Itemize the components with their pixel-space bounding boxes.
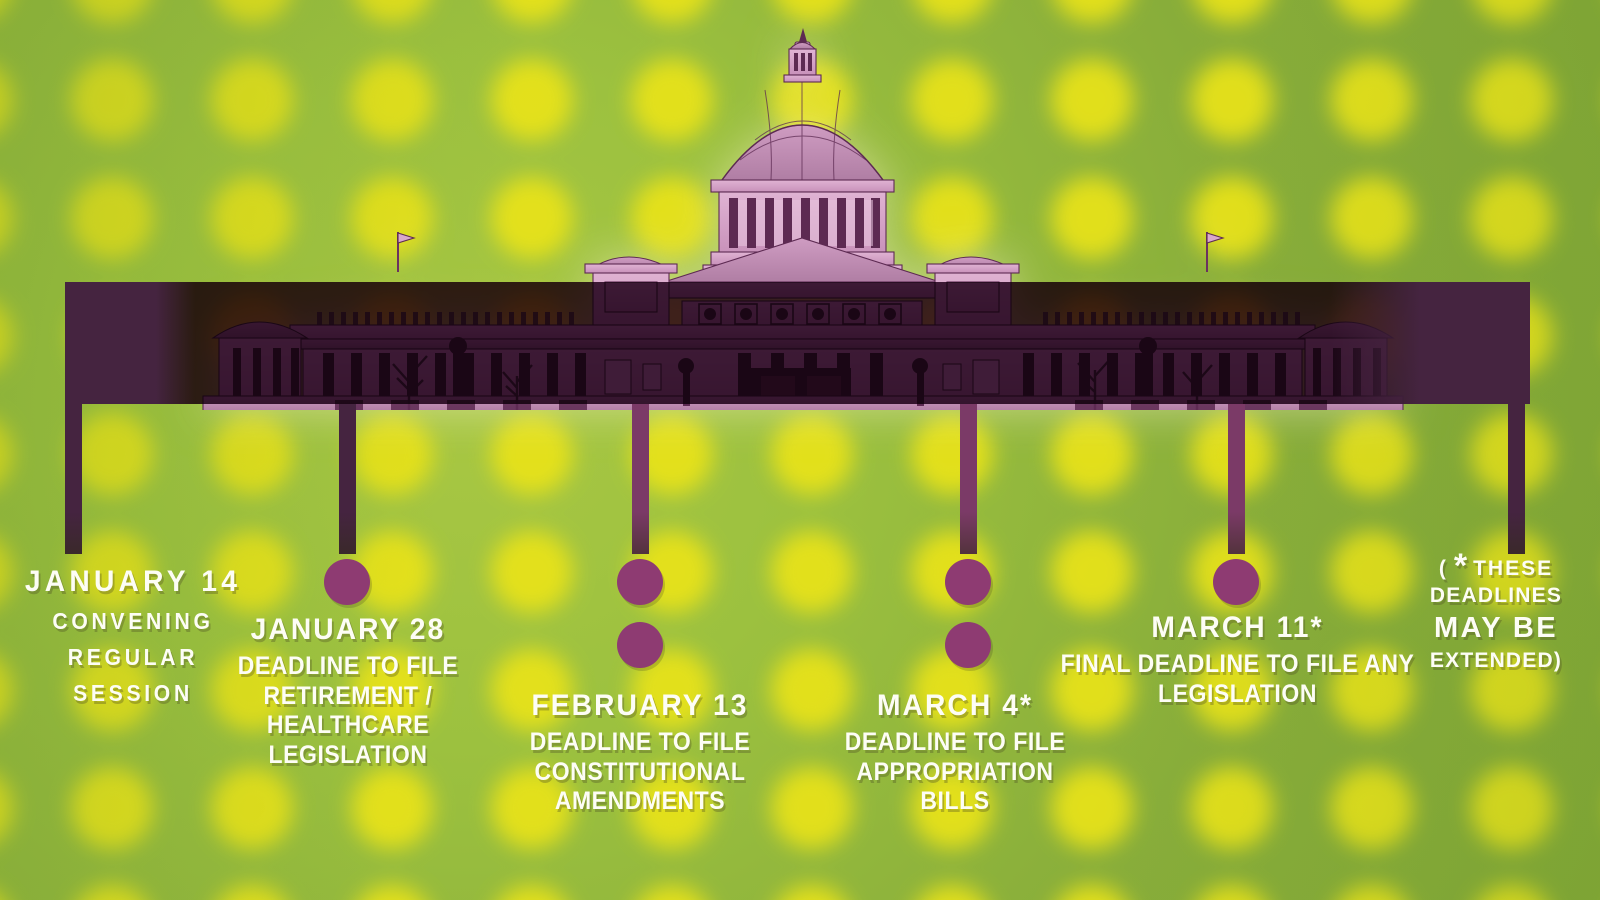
timeline-stem-february-13	[632, 404, 649, 554]
asterisk-icon: *	[1448, 547, 1473, 585]
timeline-stem-march-4	[960, 404, 977, 554]
footnote-text-these: These	[1473, 557, 1553, 580]
timeline-bar-right-fade	[1330, 282, 1530, 404]
timeline-stem-january-14	[65, 404, 82, 554]
milestone-label-february-13[interactable]: February 13 Deadline to File Constitutio…	[500, 688, 780, 817]
timeline-marker-march-11[interactable]	[1213, 559, 1259, 605]
timeline-marker-march-4-secondary[interactable]	[945, 622, 991, 668]
milestone-label-march-11[interactable]: March 11* Final Deadline to File Any Leg…	[1040, 610, 1435, 709]
milestone-date: March 11*	[1052, 610, 1423, 645]
footnote-deadlines-may-be-extended: (*These Deadlines May Be Extended)	[1396, 555, 1596, 675]
footnote-line-1: (*These	[1396, 555, 1596, 582]
timeline-marker-march-4-primary[interactable]	[945, 559, 991, 605]
timeline-stem-footnote	[1508, 404, 1525, 554]
footnote-line-2: Deadlines	[1396, 582, 1596, 609]
footnote-line-4: Extended)	[1396, 647, 1596, 674]
milestone-date: January 28	[212, 612, 485, 647]
milestone-date: March 4*	[838, 688, 1073, 723]
milestone-description: Final Deadline to File Any Legislation	[1056, 650, 1419, 709]
timeline-stem-january-28	[339, 404, 356, 554]
milestone-description: Deadline to File Retirement / Healthcare…	[215, 652, 482, 770]
footnote-open-paren: (	[1439, 557, 1448, 580]
timeline-marker-january-28[interactable]	[324, 559, 370, 605]
timeline-stem-march-11	[1228, 404, 1245, 554]
milestone-description: Deadline to File Appropriation Bills	[840, 728, 1070, 817]
timeline-marker-february-13-secondary[interactable]	[617, 622, 663, 668]
infographic-canvas: January 14 Convening Regular Session Jan…	[0, 0, 1600, 900]
milestone-date: January 14	[16, 564, 251, 599]
timeline-bar	[65, 282, 1530, 404]
footnote-line-3: May Be	[1396, 610, 1596, 648]
milestone-description: Deadline to File Constitutional Amendmen…	[511, 728, 769, 817]
milestone-date: February 13	[508, 688, 771, 723]
timeline-marker-february-13-primary[interactable]	[617, 559, 663, 605]
timeline-bar-left-fade	[65, 282, 195, 404]
milestone-label-january-28[interactable]: January 28 Deadline to File Retirement /…	[203, 612, 493, 770]
